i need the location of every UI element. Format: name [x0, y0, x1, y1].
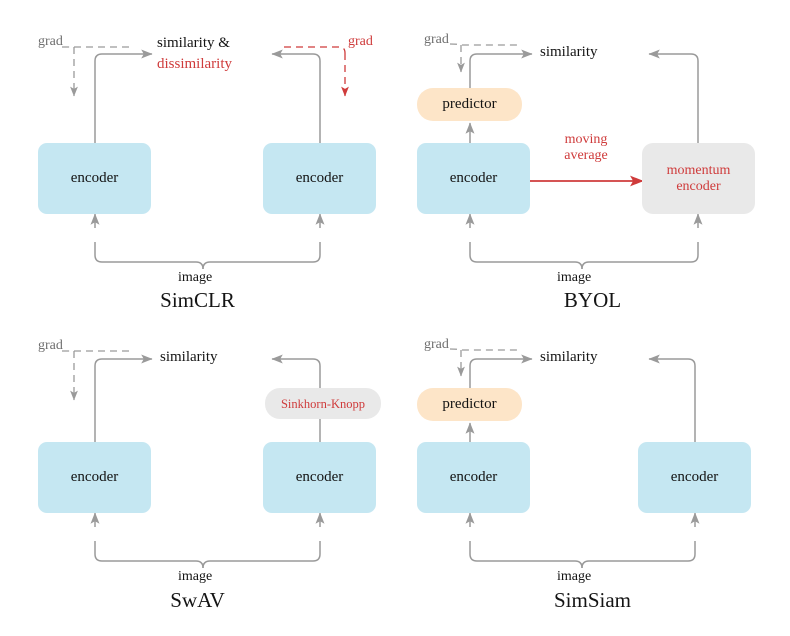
moving-average-label-line2: average [550, 148, 622, 164]
encoder-box-left[interactable]: encoder [417, 143, 530, 214]
grad-label-left: grad [38, 34, 63, 50]
image-label: image [178, 569, 212, 585]
encoder-box-left-label: encoder [71, 170, 118, 187]
figure-canvas: grad grad similarity & dissimilarity enc… [0, 0, 790, 636]
moving-average-label: moving average [550, 132, 622, 164]
grad-label-left: grad [424, 32, 449, 48]
encoder-box-left[interactable]: encoder [38, 143, 151, 214]
encoder-box-left-label: encoder [450, 469, 497, 486]
encoder-box-left-label: encoder [71, 469, 118, 486]
grad-label-left: grad [38, 338, 63, 354]
encoder-box-right[interactable]: encoder [638, 442, 751, 513]
encoder-box-left-label: encoder [450, 170, 497, 187]
image-label: image [178, 270, 212, 286]
panel-byol: grad similarity predictor encoder moment… [395, 0, 790, 318]
panel-title-byol: BYOL [395, 288, 790, 313]
grad-label-right: grad [348, 34, 373, 50]
predictor-box[interactable]: predictor [417, 88, 522, 121]
encoder-box-right[interactable]: encoder [263, 442, 376, 513]
momentum-encoder-label-line1: momentum [667, 163, 731, 179]
sinkhorn-knopp-label: Sinkhorn-Knopp [281, 397, 365, 411]
panel-simsiam: grad similarity predictor encoder encode… [395, 318, 790, 636]
panel-swav: grad similarity Sinkhorn-Knopp encoder e… [0, 318, 395, 636]
image-label: image [557, 270, 591, 286]
encoder-box-right-label: encoder [296, 469, 343, 486]
encoder-box-right[interactable]: encoder [263, 143, 376, 214]
moving-average-label-line1: moving [550, 132, 622, 148]
panel-title-simclr: SimCLR [0, 288, 395, 313]
objective-label-line2: dissimilarity [157, 56, 232, 73]
panel-title-swav: SwAV [0, 588, 395, 613]
objective-label: similarity [540, 349, 598, 366]
encoder-box-right-label: encoder [671, 469, 718, 486]
predictor-box[interactable]: predictor [417, 388, 522, 421]
predictor-box-label: predictor [442, 96, 496, 113]
encoder-box-left[interactable]: encoder [417, 442, 530, 513]
grad-label-left: grad [424, 337, 449, 353]
objective-label-line1: similarity & [157, 35, 230, 52]
objective-label: similarity [540, 44, 598, 61]
predictor-box-label: predictor [442, 396, 496, 413]
encoder-box-left[interactable]: encoder [38, 442, 151, 513]
image-label: image [557, 569, 591, 585]
objective-label: similarity [160, 349, 218, 366]
panel-title-simsiam: SimSiam [395, 588, 790, 613]
encoder-box-right-label: encoder [296, 170, 343, 187]
momentum-encoder-label-line2: encoder [676, 179, 720, 195]
momentum-encoder-box[interactable]: momentum encoder [642, 143, 755, 214]
sinkhorn-knopp-box[interactable]: Sinkhorn-Knopp [265, 388, 381, 419]
panel-simclr: grad grad similarity & dissimilarity enc… [0, 0, 395, 318]
